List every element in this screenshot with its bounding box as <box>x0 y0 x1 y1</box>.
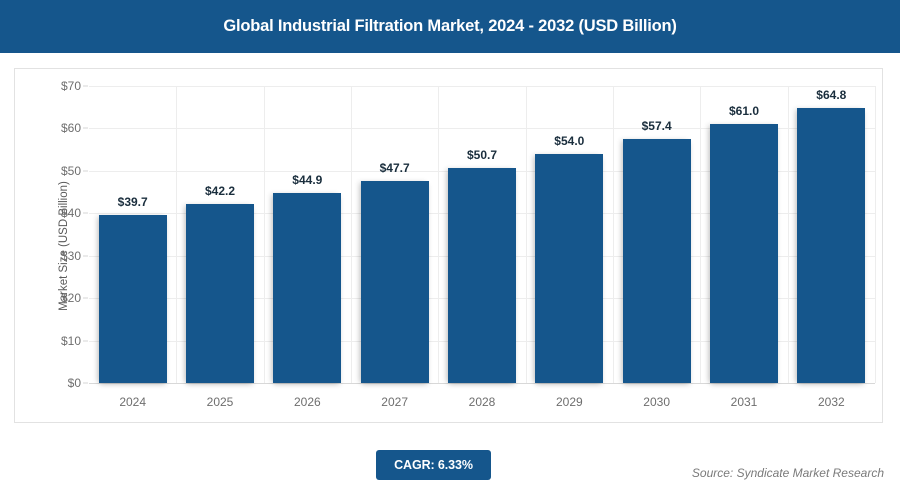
bar-value-label-2026: $44.9 <box>264 173 351 187</box>
x-axis-tick-label-2027: 2027 <box>351 395 438 409</box>
y-axis-tick-label: $70 <box>61 79 81 93</box>
bar-group-2031[interactable]: $61.02031 <box>700 86 787 383</box>
y-tick-mark <box>83 298 88 299</box>
page-title: Global Industrial Filtration Market, 202… <box>223 17 676 36</box>
y-axis-tick-label: $40 <box>61 206 81 220</box>
bar-2030[interactable] <box>623 139 691 383</box>
bar-group-2027[interactable]: $47.72027 <box>351 86 438 383</box>
bar-2031[interactable] <box>710 124 778 383</box>
category-separator <box>875 86 876 383</box>
bar-value-label-2028: $50.7 <box>438 148 525 162</box>
bar-value-label-2025: $42.2 <box>176 184 263 198</box>
bar-2025[interactable] <box>186 204 254 383</box>
bar-value-label-2030: $57.4 <box>613 119 700 133</box>
bar-group-2030[interactable]: $57.42030 <box>613 86 700 383</box>
cagr-badge: CAGR: 6.33% <box>376 450 491 480</box>
bar-value-label-2031: $61.0 <box>700 104 787 118</box>
y-tick-mark <box>83 340 88 341</box>
y-tick-mark <box>83 128 88 129</box>
y-axis-tick-label: $20 <box>61 291 81 305</box>
source-note: Source: Syndicate Market Research <box>692 466 884 480</box>
y-tick-mark <box>83 170 88 171</box>
bar-2027[interactable] <box>361 181 429 383</box>
y-axis-tick-label: $60 <box>61 121 81 135</box>
bar-value-label-2029: $54.0 <box>526 134 613 148</box>
y-tick-mark <box>83 255 88 256</box>
x-axis-tick-label-2032: 2032 <box>788 395 875 409</box>
y-axis-tick-label: $50 <box>61 164 81 178</box>
bar-2028[interactable] <box>448 168 516 383</box>
bar-2024[interactable] <box>99 215 167 383</box>
bar-group-2026[interactable]: $44.92026 <box>264 86 351 383</box>
gridline-y-0 <box>89 383 875 384</box>
y-axis-tick-label: $30 <box>61 249 81 263</box>
x-axis-tick-label-2026: 2026 <box>264 395 351 409</box>
x-axis-tick-label-2031: 2031 <box>700 395 787 409</box>
y-tick-mark <box>83 86 88 87</box>
bar-group-2028[interactable]: $50.72028 <box>438 86 525 383</box>
y-axis-tick-label: $10 <box>61 334 81 348</box>
x-axis-tick-label-2030: 2030 <box>613 395 700 409</box>
y-axis-tick-label: $0 <box>68 376 81 390</box>
bar-2029[interactable] <box>535 154 603 383</box>
bar-2032[interactable] <box>797 108 865 383</box>
bar-group-2024[interactable]: $39.72024 <box>89 86 176 383</box>
x-axis-tick-label-2025: 2025 <box>176 395 263 409</box>
bar-group-2025[interactable]: $42.22025 <box>176 86 263 383</box>
x-axis-tick-label-2028: 2028 <box>438 395 525 409</box>
chart-container: Market Size (USD Billion) $0$10$20$30$40… <box>14 68 883 423</box>
bar-group-2029[interactable]: $54.02029 <box>526 86 613 383</box>
bar-value-label-2027: $47.7 <box>351 161 438 175</box>
y-tick-mark <box>83 383 88 384</box>
x-axis-tick-label-2029: 2029 <box>526 395 613 409</box>
chart-header-band: Global Industrial Filtration Market, 202… <box>0 0 900 53</box>
bar-value-label-2024: $39.7 <box>89 195 176 209</box>
bar-2026[interactable] <box>273 193 341 384</box>
bar-value-label-2032: $64.8 <box>788 88 875 102</box>
x-axis-tick-label-2024: 2024 <box>89 395 176 409</box>
plot-area: $0$10$20$30$40$50$60$70$39.72024$42.2202… <box>89 86 875 383</box>
bar-group-2032[interactable]: $64.82032 <box>788 86 875 383</box>
y-tick-mark <box>83 213 88 214</box>
